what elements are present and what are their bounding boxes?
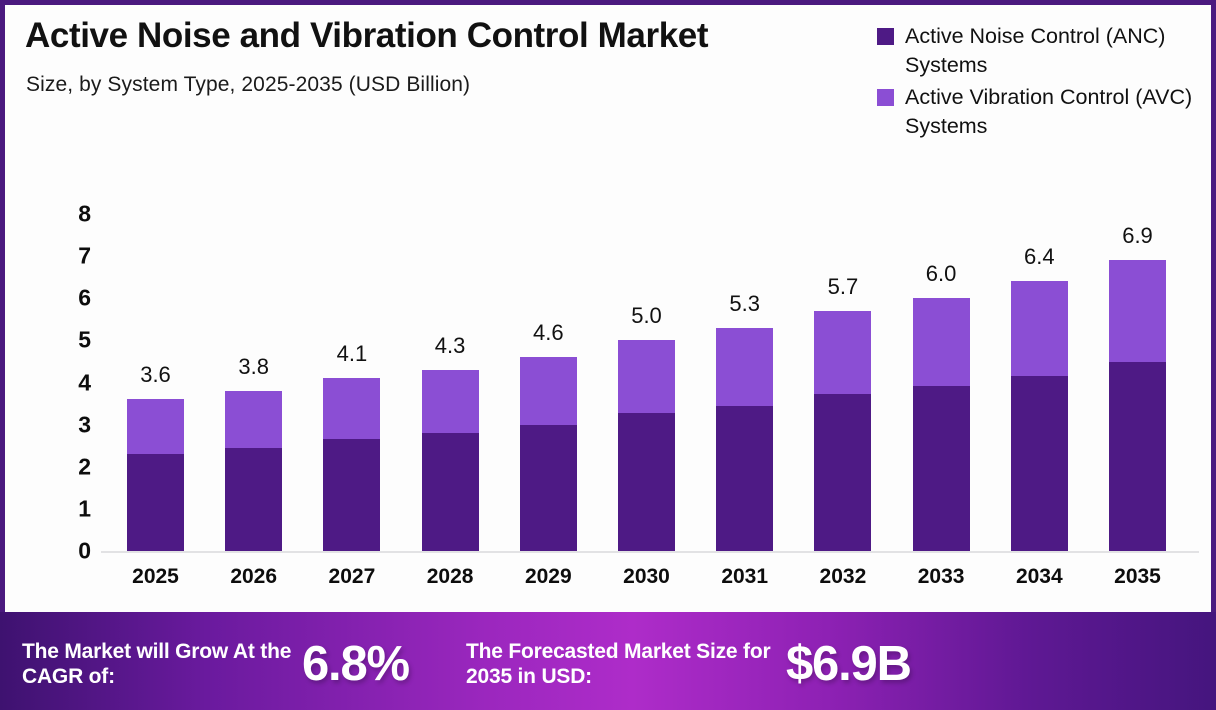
y-axis: 012345678 [49,5,91,605]
bar-value-label: 6.9 [1122,223,1153,249]
y-axis-tick: 6 [51,285,91,312]
bar-segment-avc[interactable] [1011,281,1068,376]
y-axis-tick: 4 [51,369,91,396]
footer-banner: The Market will Grow At the CAGR of: 6.8… [0,612,1216,710]
bar-column[interactable] [127,399,184,551]
bar-column[interactable] [520,357,577,551]
bar-column[interactable] [913,298,970,551]
bar-segment-avc[interactable] [520,357,577,424]
bar-column[interactable] [1109,260,1166,551]
x-axis-tick: 2029 [520,565,577,589]
bar-value-label: 6.0 [926,261,957,287]
infographic-page: Active Noise and Vibration Control Marke… [0,0,1216,710]
bar-segment-anc[interactable] [1011,376,1068,551]
x-axis-tick: 2034 [1011,565,1068,589]
plot-area: 012345678 3.620253.820264.120274.320284.… [5,5,1211,605]
cagr-value: 6.8% [302,636,409,692]
bar-segment-anc[interactable] [422,433,479,551]
forecast-caption: The Forecasted Market Size for 2035 in U… [466,639,776,689]
x-axis-tick: 2028 [422,565,479,589]
bar-segment-avc[interactable] [323,378,380,439]
bar-segment-avc[interactable] [225,391,282,448]
bar-segment-anc[interactable] [520,425,577,551]
bar-segment-anc[interactable] [716,406,773,551]
x-axis-tick: 2031 [716,565,773,589]
bar-segment-anc[interactable] [814,394,871,551]
bar-value-label: 3.6 [140,362,171,388]
bar-value-label: 6.4 [1024,244,1055,270]
bar-column[interactable] [225,391,282,551]
y-axis-tick: 5 [51,327,91,354]
bar-segment-anc[interactable] [1109,362,1166,551]
bar-segment-avc[interactable] [913,298,970,386]
bar-segment-avc[interactable] [422,370,479,433]
bar-value-label: 4.1 [337,341,368,367]
x-axis-tick: 2033 [913,565,970,589]
y-axis-tick: 3 [51,411,91,438]
bar-column[interactable] [323,378,380,551]
y-axis-tick: 7 [51,243,91,270]
y-axis-tick: 8 [51,201,91,228]
bar-segment-anc[interactable] [618,413,675,551]
bar-column[interactable] [814,311,871,551]
bar-segment-anc[interactable] [913,386,970,551]
bar-segment-avc[interactable] [716,328,773,406]
bar-segment-anc[interactable] [323,439,380,551]
bar-segment-avc[interactable] [618,340,675,412]
bar-column[interactable] [1011,281,1068,551]
x-axis-tick: 2025 [127,565,184,589]
x-axis-tick: 2030 [618,565,675,589]
bar-column[interactable] [422,370,479,551]
bar-segment-anc[interactable] [127,454,184,551]
bar-column[interactable] [618,340,675,551]
bar-value-label: 3.8 [238,354,269,380]
x-axis-tick: 2027 [323,565,380,589]
bar-segment-anc[interactable] [225,448,282,551]
y-axis-tick: 1 [51,495,91,522]
bar-segment-avc[interactable] [1109,260,1166,362]
bar-value-label: 5.7 [828,274,859,300]
bar-segment-avc[interactable] [127,399,184,454]
y-axis-tick: 0 [51,538,91,565]
chart-canvas: Active Noise and Vibration Control Marke… [5,5,1211,705]
bar-segment-avc[interactable] [814,311,871,394]
y-axis-tick: 2 [51,453,91,480]
bar-value-label: 5.0 [631,303,662,329]
bar-value-label: 5.3 [729,291,760,317]
forecast-value: $6.9B [786,636,911,692]
x-axis-tick: 2032 [814,565,871,589]
cagr-caption: The Market will Grow At the CAGR of: [22,639,302,689]
bar-column[interactable] [716,328,773,551]
x-axis-tick: 2026 [225,565,282,589]
bar-value-label: 4.3 [435,333,466,359]
bar-value-label: 4.6 [533,320,564,346]
x-axis-tick: 2035 [1109,565,1166,589]
x-axis-line [101,551,1199,553]
